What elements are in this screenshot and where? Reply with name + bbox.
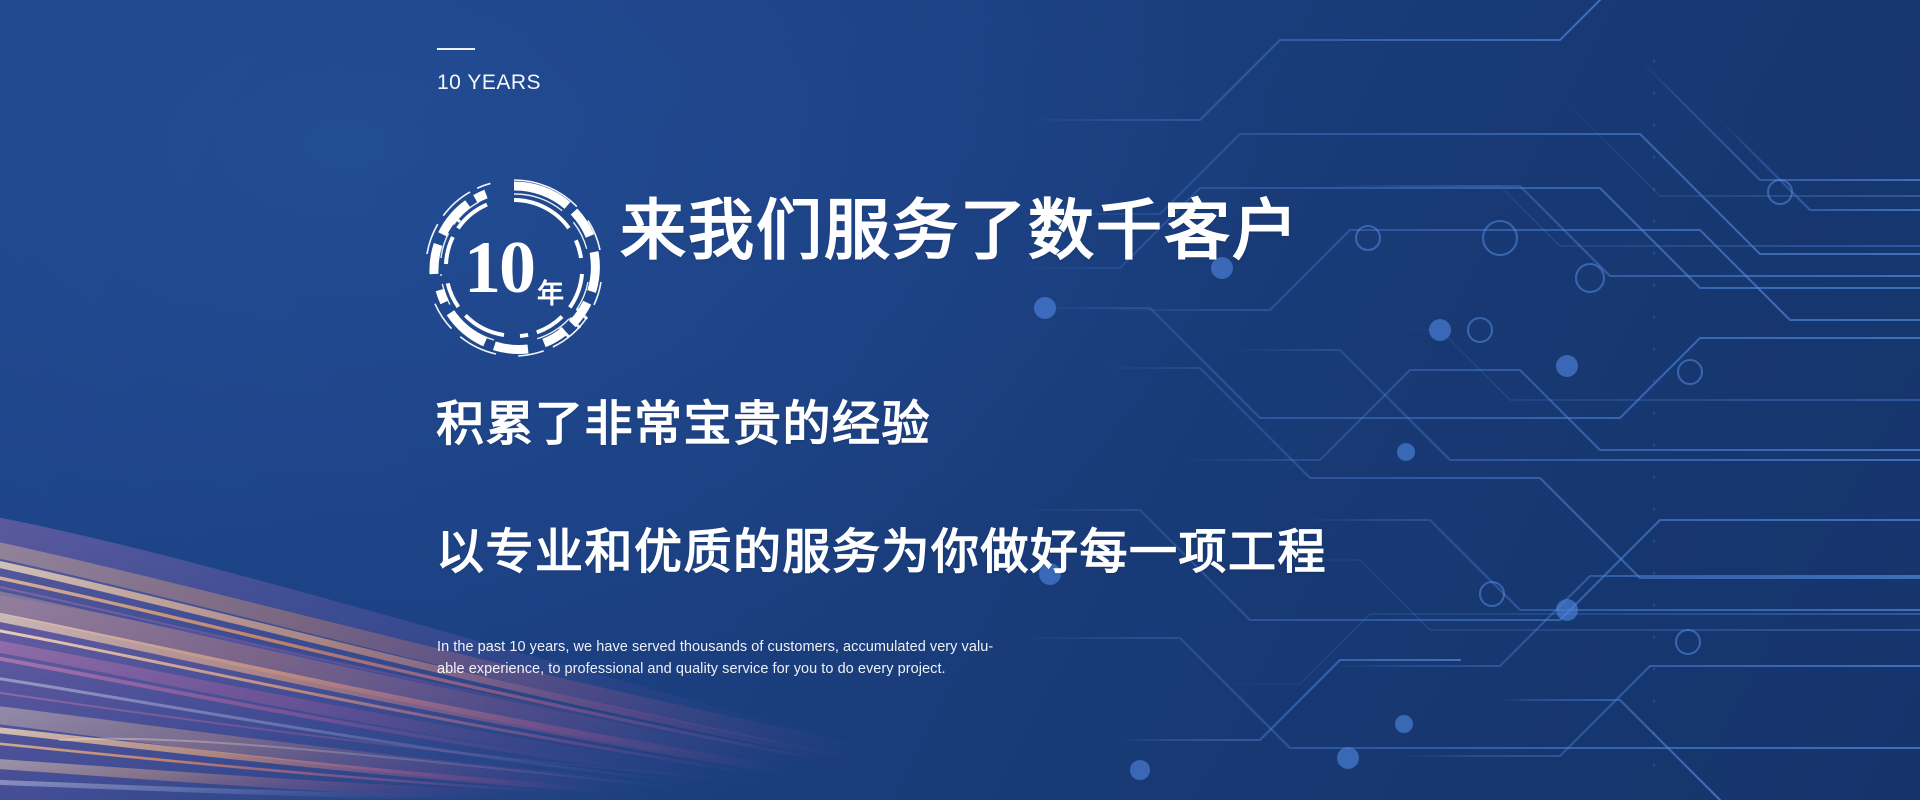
badge-value: 10 年 [424,178,604,358]
horizontal-rule-icon [437,48,475,50]
subcopy-line-2: able experience, to professional and qua… [437,658,965,680]
headline-secondary: 积累了非常宝贵的经验 [436,396,931,454]
subcopy-line-1: In the past 10 years, we have served tho… [437,636,965,658]
eyebrow-block: 10 YEARS [437,48,541,95]
headline-tertiary: 以专业和优质的服务为你做好每一项工程 [436,524,1327,582]
badge-number: 10 [464,231,534,305]
tech-ring-icon: 10 年 [424,178,604,358]
subcopy-paragraph: In the past 10 years, we have served tho… [437,636,965,680]
headline-primary: 来我们服务了数千客户 [620,190,1300,271]
eyebrow-label: 10 YEARS [437,71,541,95]
badge-unit: 年 [537,281,564,308]
promo-banner: 10 YEARS [0,0,1920,800]
